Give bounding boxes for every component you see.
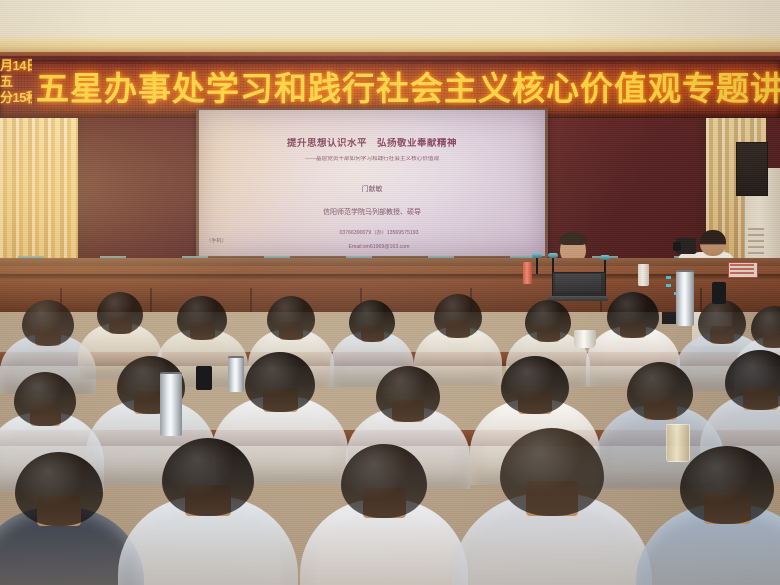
audience-head	[607, 292, 659, 338]
tea-glass-1	[666, 424, 690, 462]
audience-member-r3-2	[118, 438, 298, 585]
audience-head	[267, 296, 315, 340]
podium-mic-head-3	[600, 255, 610, 260]
audience-head	[162, 438, 254, 516]
audience-head	[341, 444, 427, 518]
audience-member-r3-5	[636, 446, 780, 585]
audience-head	[245, 352, 315, 412]
equipment-rack-led-1	[666, 276, 671, 279]
thermos-bottle-2	[676, 270, 694, 326]
podium-mic-head-1	[532, 253, 542, 258]
audience-head	[349, 300, 395, 342]
podium-mic-head-2	[548, 253, 558, 258]
audience-head	[434, 294, 482, 338]
lecture-hall-photograph: 五星办事处学习和践行社会主义核心价值观专题讲座 五星办事处学习和践行社会主义核心…	[0, 0, 780, 585]
audience-head	[177, 296, 227, 340]
audience-member-r3-3	[300, 444, 468, 585]
audience-head	[725, 350, 780, 410]
equipment-rack-led-2	[666, 284, 671, 287]
audience-head	[751, 306, 780, 348]
audience-head	[500, 428, 604, 516]
audience-head	[14, 372, 76, 426]
audience-head	[376, 366, 440, 422]
audience-head	[627, 362, 693, 420]
audience-head	[525, 300, 571, 342]
podium-mic-stand-1	[536, 256, 538, 274]
podium-mic-stand-3	[604, 258, 606, 272]
audience-head	[680, 446, 774, 524]
audience-head	[97, 292, 143, 334]
audience-member-r3-4	[452, 428, 652, 585]
mobile-phone-1	[712, 282, 726, 304]
podium-mic-stand-2	[552, 256, 554, 272]
thermos-bottle-3	[228, 356, 244, 392]
audience-head	[501, 356, 569, 414]
white-mug	[574, 330, 596, 348]
thermos-bottle-1	[160, 372, 182, 436]
audience-head	[22, 300, 74, 346]
audience-head	[15, 452, 103, 526]
mobile-phone-2	[196, 366, 212, 390]
